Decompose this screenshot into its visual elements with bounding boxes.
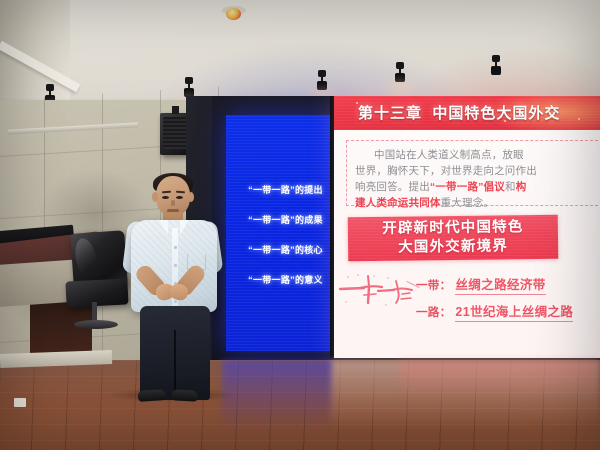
ceiling-spotlight-icon <box>318 70 326 77</box>
ceiling-spotlight-icon <box>492 55 500 62</box>
outline-item-2[interactable]: “一带一路”的成果 <box>226 213 345 226</box>
presentation-scene: “一带一路”的提出 “一带一路”的成果 “一带一路”的核心 “一带一路”的意义 … <box>0 0 600 450</box>
collar-right <box>180 220 189 235</box>
slide-body-line-2: 世界，胸怀天下，对世界走向之问作出 <box>355 163 594 179</box>
presentation-slide[interactable]: 第十三章 中国特色大国外交 中国站在人类道义制高点，放眼 世界，胸怀天下，对世界… <box>334 96 600 358</box>
eye-right <box>176 196 183 199</box>
screen-reflection-red <box>400 360 600 410</box>
headline-line-2: 大国外交新境界 <box>398 237 508 257</box>
outline-item-3[interactable]: “一带一路”的核心 <box>226 243 345 256</box>
led-video-wall[interactable]: “一带一路”的提出 “一带一路”的成果 “一带一路”的核心 “一带一路”的意义 … <box>212 96 600 368</box>
slide-body-line-4: 建人类命运共同体重大理念。 <box>355 195 594 211</box>
body-text: 重大理念。 <box>441 197 495 209</box>
chapter-name: 中国特色大国外交 <box>432 105 560 122</box>
slide-body-line-3: 响亮回答。提出“一带一路”倡议和构 <box>355 179 594 195</box>
shoe-left <box>138 389 167 402</box>
chapter-number: 第十三章 <box>358 105 422 122</box>
belt-road-calligraphy-logo <box>338 272 416 312</box>
slide-body-line-1: 中国站在人类道义制高点，放眼 <box>355 147 594 163</box>
eye-left <box>162 196 169 199</box>
ear-right <box>188 192 194 202</box>
body-text: 中国站在人类道义制高点， <box>374 149 502 161</box>
outline-item-1[interactable]: “一带一路”的提出 <box>226 183 345 196</box>
slide-body-box: 中国站在人类道义制高点，放眼 世界，胸怀天下，对世界走向之问作出 响亮回答。提出… <box>346 140 598 206</box>
emphasis-belt-road: “一带一路” <box>430 181 484 193</box>
outline-item-4[interactable]: “一带一路”的意义 <box>226 273 345 286</box>
belt-label: 一带： <box>416 277 451 293</box>
belt-road-definition-list: 一带： 丝绸之路经济带 一路： 21世纪海上丝绸之路 <box>416 274 600 328</box>
collar-left <box>159 220 168 235</box>
screen-divider <box>330 96 334 368</box>
road-value: 21世纪海上丝绸之路 <box>455 301 573 322</box>
slide-headline-block: 开辟新时代中国特色 大国外交新境界 <box>348 215 559 262</box>
trousers <box>140 306 210 400</box>
ceiling-spotlight-icon <box>396 62 404 69</box>
body-text: 放眼 <box>502 149 523 161</box>
emphasis-build: 构 <box>516 181 527 193</box>
belt-value: 丝绸之路经济带 <box>455 274 545 295</box>
slide-title-banner: 第十三章 中国特色大国外交 <box>334 96 600 130</box>
presenter <box>118 176 224 396</box>
list-item: 一带： 丝绸之路经济带 <box>416 274 600 295</box>
ear-left <box>152 192 158 202</box>
smoke-detector-icon <box>226 8 241 20</box>
body-text: 响亮回答。提出 <box>355 181 430 193</box>
road-label: 一路： <box>416 304 451 320</box>
wall-socket <box>14 398 26 407</box>
outline-panel[interactable]: “一带一路”的提出 “一带一路”的成果 “一带一路”的核心 “一带一路”的意义 <box>226 115 345 351</box>
shoe-right <box>172 389 199 401</box>
list-item: 一路： 21世纪海上丝绸之路 <box>416 301 600 322</box>
nose <box>171 200 175 206</box>
ceiling-spotlight-icon <box>185 77 193 84</box>
slide-chapter-title: 第十三章 中国特色大国外交 <box>358 102 560 123</box>
body-text: 和 <box>505 181 516 193</box>
emphasis-community: 建人类命运共同体 <box>355 197 441 209</box>
headline-line-1: 开辟新时代中国特色 <box>382 218 524 239</box>
ceiling-spotlight-icon <box>46 84 54 91</box>
emphasis-initiative: 倡议 <box>484 181 505 193</box>
screen-reflection-blue <box>222 360 332 450</box>
